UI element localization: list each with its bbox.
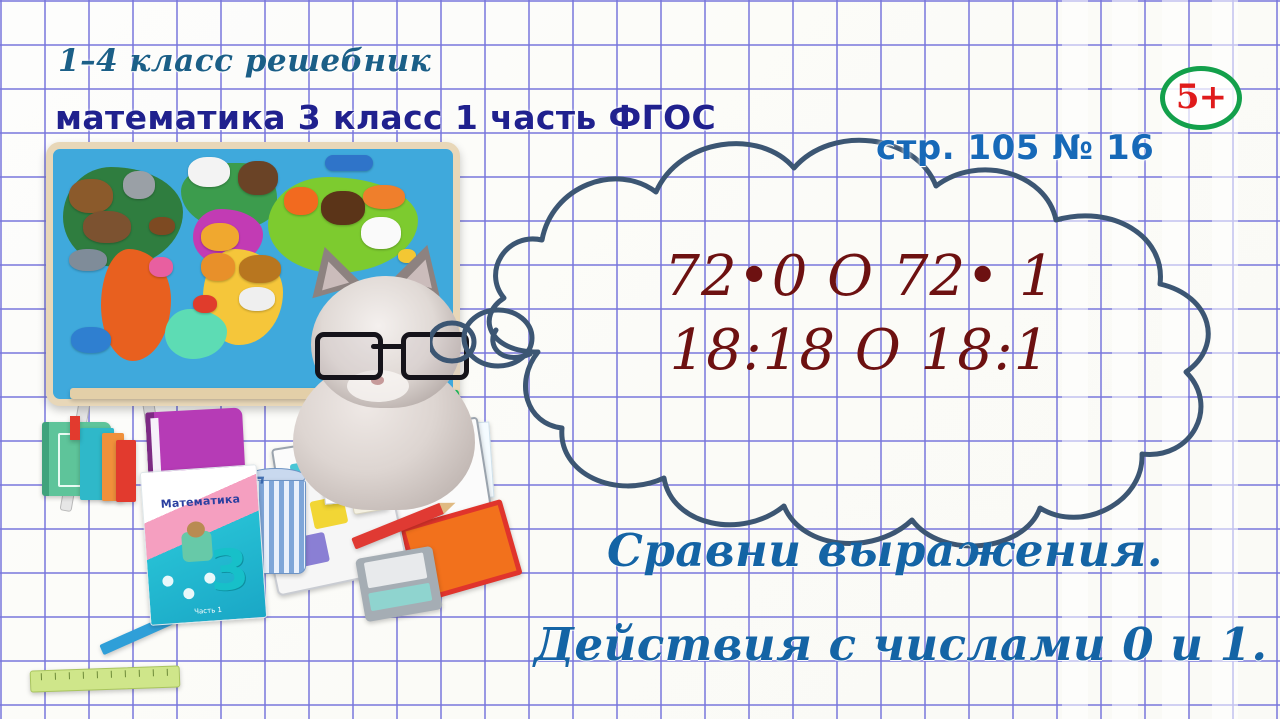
glasses-lens-left [315, 332, 383, 380]
animal-gift [149, 257, 173, 277]
textbook-part: Часть 1 [150, 603, 265, 619]
expression-line-2: 18:18 O 18:1 [600, 318, 1120, 383]
textbook-grade: 3 [208, 542, 251, 601]
task-caption-1: Сравни выражения. [607, 524, 1163, 577]
bookmark [70, 416, 80, 440]
animal-zebra [239, 287, 275, 311]
glasses-bridge [371, 344, 405, 349]
calculator-screen [368, 583, 432, 611]
animal-lion [201, 253, 235, 281]
animal-submarine [325, 155, 373, 171]
ruler [30, 665, 181, 692]
animal-whale-blue [71, 327, 111, 353]
badge-label: 5+ [1160, 66, 1242, 130]
thumbnail-canvas: Т Математика 3 Часть 1 [0, 0, 1280, 719]
task-caption-2: Действия с числами 0 и 1. [534, 618, 1268, 671]
textbook-title: Математика [143, 491, 259, 512]
course-subtitle: 1–4 класс решебник [58, 43, 431, 79]
page-title: математика 3 класс 1 часть ФГОС [55, 98, 716, 137]
animal-crab [193, 295, 217, 313]
animal-tiger [363, 185, 405, 209]
textbook-dot [183, 588, 195, 600]
animal-moose [69, 179, 113, 213]
math-textbook: Математика 3 Часть 1 [140, 464, 267, 626]
animal-fox [284, 187, 318, 215]
textbook-dot [162, 575, 174, 587]
calculator [355, 546, 443, 623]
animal-bear [321, 191, 365, 225]
continent-antarctica [165, 309, 227, 359]
animal-elk [238, 161, 278, 195]
animal-raccoon [123, 171, 155, 199]
thought-bubble-dot-medium [430, 323, 474, 361]
animal-whale-grey [69, 249, 107, 271]
expression-group: 72•0 O 72• 1 18:18 O 18:1 [600, 0, 1120, 400]
age-rating-badge: 5+ [1160, 66, 1242, 130]
expression-line-1: 72•0 O 72• 1 [600, 244, 1120, 309]
page-reference: стр. 105 № 16 [876, 128, 1154, 168]
animal-shell [149, 217, 175, 235]
animal-polar-bear [188, 157, 230, 187]
book-red [116, 440, 136, 502]
animal-eagle [83, 211, 131, 243]
calculator-keys [364, 552, 428, 588]
animal-camel [201, 223, 239, 251]
